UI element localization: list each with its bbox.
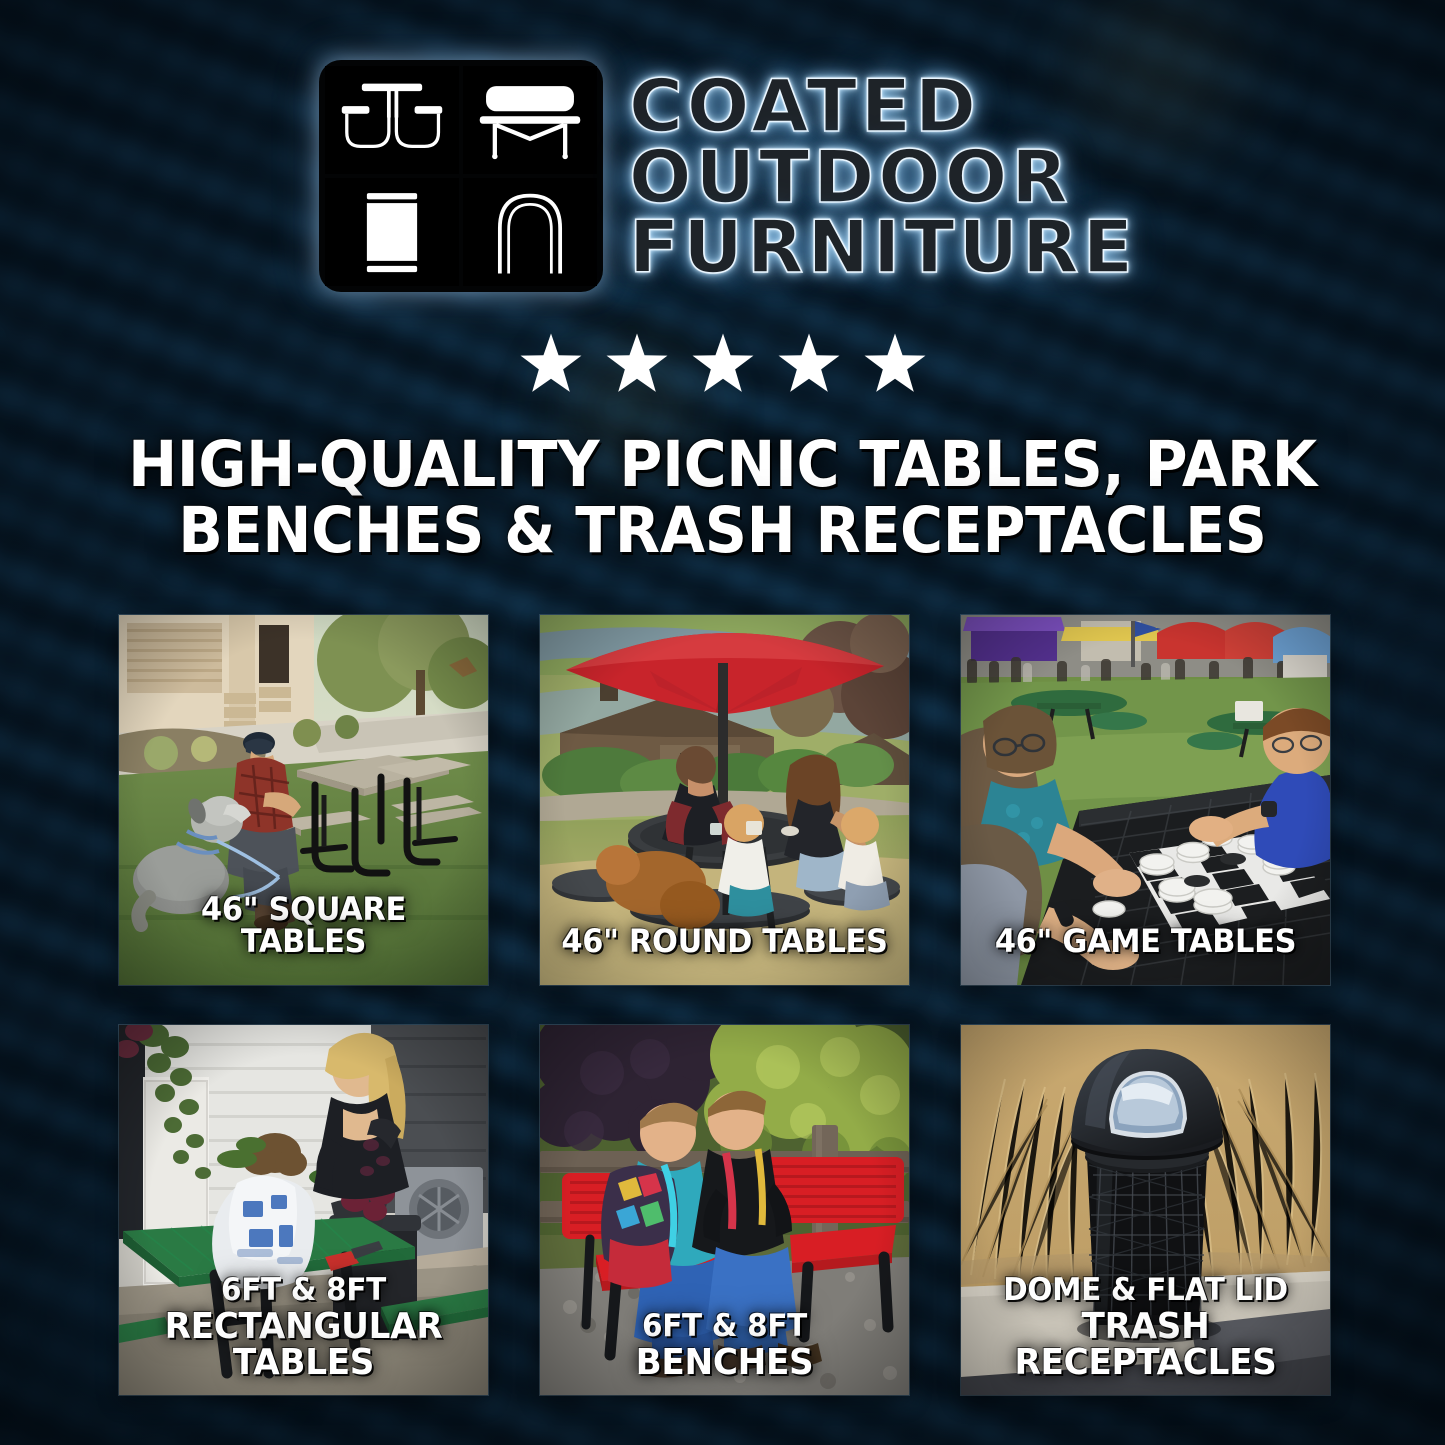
star-icon [863,332,927,394]
product-card-game-tables[interactable]: 46" GAME TABLES [961,615,1330,985]
star-icon [519,332,583,394]
product-card-trash-receptacles[interactable]: DOME & FLAT LID TRASH RECEPTACLES [961,1025,1330,1395]
headline-line-1: HIGH-QUALITY PICNIC TABLES, PARK [106,432,1338,498]
picnic-table-icon [325,66,459,174]
trash-receptacle-icon [325,178,459,286]
brand-logo: COATED OUTDOOR FURNITURE [0,60,1445,292]
product-caption-square-tables: 46" SQUARE TABLES [134,893,473,957]
logo-icon-grid [319,60,603,292]
star-icon [777,332,841,394]
product-caption-rectangular-tables: 6FT & 8FT RECTANGULAR TABLES [134,1275,473,1381]
star-rating [0,332,1445,394]
brand-wordmark: COATED OUTDOOR FURNITURE [629,70,1127,281]
headline-line-2: BENCHES & TRASH RECEPTACLES [106,498,1338,564]
product-caption-benches: 6FT & 8FT BENCHES [555,1311,894,1381]
caption-line-2: TRASH RECEPTACLES [976,1309,1315,1381]
brand-line-2: OUTDOOR [629,143,1137,211]
caption-line-1: 46" GAME TABLES [976,925,1315,957]
star-icon [605,332,669,394]
star-icon [691,332,755,394]
caption-line-2: BENCHES [555,1345,894,1381]
caption-line-1: 6FT & 8FT [555,1311,894,1342]
product-grid: 46" SQUARE TABLES [119,615,1330,1395]
marketing-poster: COATED OUTDOOR FURNITURE HIGH-QUALITY PI… [0,0,1445,1445]
product-caption-game-tables: 46" GAME TABLES [976,925,1315,957]
product-card-round-tables[interactable]: 46" ROUND TABLES [540,615,909,985]
caption-line-1: 46" ROUND TABLES [555,925,894,957]
park-bench-icon [463,66,597,174]
brand-line-3: FURNITURE [629,213,1137,281]
product-caption-trash-receptacles: DOME & FLAT LID TRASH RECEPTACLES [976,1275,1315,1381]
page-title: HIGH-QUALITY PICNIC TABLES, PARK BENCHES… [106,432,1338,564]
brand-line-1: COATED [629,72,1137,140]
product-card-square-tables[interactable]: 46" SQUARE TABLES [119,615,488,985]
product-card-benches[interactable]: 6FT & 8FT BENCHES [540,1025,909,1395]
caption-line-1: 46" SQUARE TABLES [134,893,473,957]
caption-line-1: 6FT & 8FT [134,1275,473,1306]
product-caption-round-tables: 46" ROUND TABLES [555,925,894,957]
bike-rack-arch-icon [463,178,597,286]
caption-line-1: DOME & FLAT LID [976,1275,1315,1306]
product-card-rectangular-tables[interactable]: 6FT & 8FT RECTANGULAR TABLES [119,1025,488,1395]
caption-line-2: RECTANGULAR TABLES [134,1309,473,1381]
